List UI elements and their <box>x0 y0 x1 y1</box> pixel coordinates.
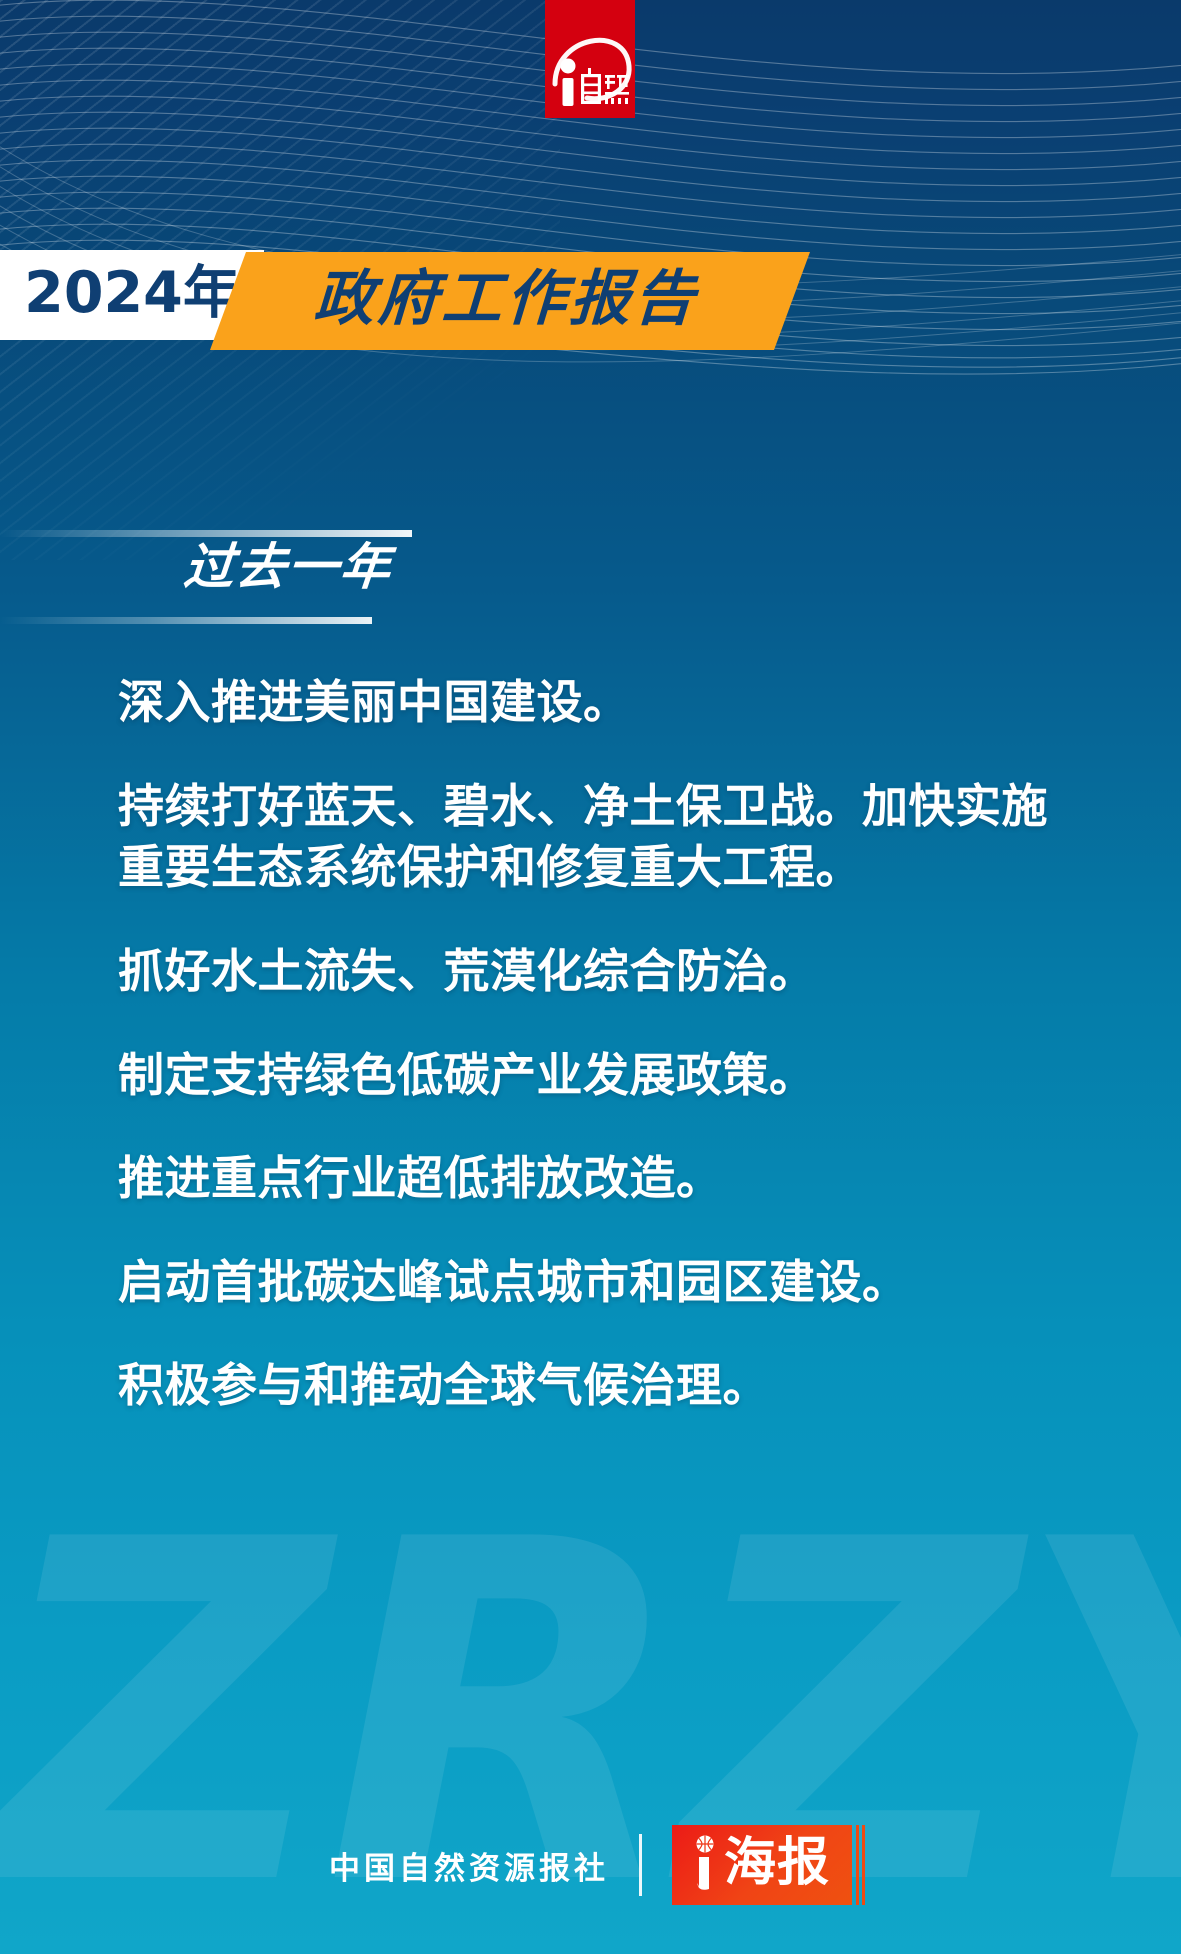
headline-banner: 政府工作报告 <box>210 252 810 350</box>
badge-i-icon <box>690 1835 720 1893</box>
body-paragraph: 积极参与和推动全球气候治理。 <box>118 1355 1078 1417</box>
poster-root: ZRZY <box>0 0 1181 1954</box>
body-paragraph: 抓好水土流失、荒漠化综合防治。 <box>118 941 1078 1003</box>
section-rule-top <box>0 530 412 537</box>
section-header: 过去一年 <box>0 512 420 632</box>
headline-label: 政府工作报告 <box>312 269 699 329</box>
body-paragraph-list: 深入推进美丽中国建设。 持续打好蓝天、碧水、净土保卫战。加快实施重要生态系统保护… <box>118 672 1078 1459</box>
body-paragraph: 持续打好蓝天、碧水、净土保卫战。加快实施重要生态系统保护和修复重大工程。 <box>118 776 1078 899</box>
section-label: 过去一年 <box>182 542 394 592</box>
body-paragraph: 制定支持绿色低碳产业发展政策。 <box>118 1045 1078 1107</box>
body-paragraph: 启动首批碳达峰试点城市和园区建设。 <box>118 1252 1078 1314</box>
body-paragraph: 深入推进美丽中国建设。 <box>118 672 1078 734</box>
footer: 中国自然资源报社 海报 <box>0 1810 1181 1920</box>
section-rule-bottom <box>0 617 372 624</box>
body-paragraph: 推进重点行业超低排放改造。 <box>118 1148 1078 1210</box>
year-label: 2024年 <box>24 265 240 322</box>
ihaibao-badge: 海报 <box>672 1825 852 1905</box>
izran-logo <box>545 0 635 118</box>
publisher-label: 中国自然资源报社 <box>329 1843 609 1888</box>
badge-label: 海报 <box>724 1837 830 1889</box>
footer-divider <box>639 1834 642 1896</box>
